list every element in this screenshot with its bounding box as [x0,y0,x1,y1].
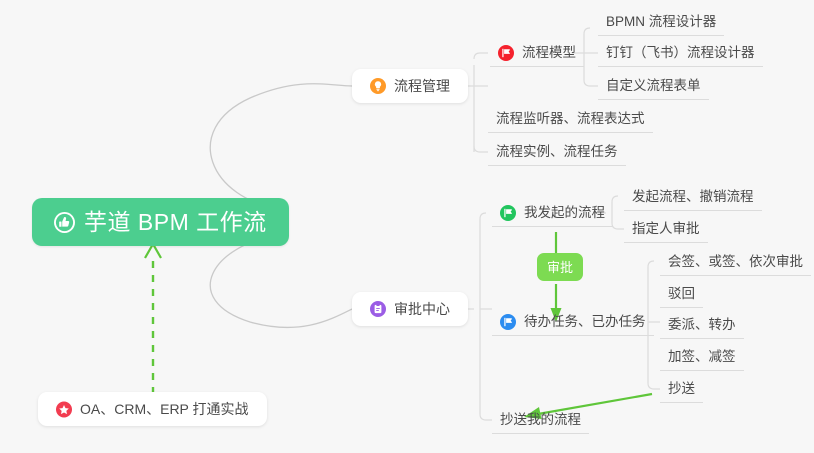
root-node[interactable]: 芋道 BPM 工作流 [32,198,289,246]
link-root-to-approval-center [210,234,352,327]
node-listener-expression[interactable]: 流程监听器、流程表达式 [488,105,653,133]
thumbs-up-icon [54,212,75,233]
approval-tag-label: 审批 [547,261,573,274]
link-ac-trunk [480,213,492,420]
node-label: BPMN 流程设计器 [606,15,716,29]
star-icon [56,401,72,417]
root-label: 芋道 BPM 工作流 [84,211,267,234]
flag-icon [500,205,516,221]
node-label: 抄送我的流程 [500,413,581,427]
node-my-initiated[interactable]: 我发起的流程 [492,199,613,227]
node-label: 流程模型 [522,46,576,60]
node-label: 发起流程、撤销流程 [632,190,754,204]
node-countersign[interactable]: 会签、或签、依次审批 [660,248,811,276]
flag-icon [498,45,514,61]
node-label: 流程实例、流程任务 [496,145,618,159]
link-pm-trunk-bottom [474,146,488,152]
node-label: 自定义流程表单 [606,79,701,93]
node-reject[interactable]: 驳回 [660,280,703,308]
node-label: 我发起的流程 [524,206,605,220]
integration-card-label: OA、CRM、ERP 打通实战 [80,402,249,416]
branch-label: 流程管理 [394,79,450,93]
node-label: 流程监听器、流程表达式 [496,112,645,126]
node-label: 会签、或签、依次审批 [668,255,803,269]
clipboard-icon [370,301,386,317]
node-assignee-approval[interactable]: 指定人审批 [624,215,708,243]
node-add-remove-sign[interactable]: 加签、减签 [660,343,744,371]
link-pm-trunk-top [474,53,488,59]
branch-approval-center[interactable]: 审批中心 [352,292,468,326]
link-model-trunk [584,28,598,86]
arrow-integration-to-root [145,244,161,394]
node-process-model[interactable]: 流程模型 [490,39,584,67]
mindmap-canvas: 芋道 BPM 工作流 流程管理 流程模型 BPMN 流程设计器 钉钉（飞书）流程 [0,0,814,453]
node-label: 指定人审批 [632,222,700,236]
node-label: 委派、转办 [668,318,736,332]
node-custom-form[interactable]: 自定义流程表单 [598,72,709,100]
node-instance-task[interactable]: 流程实例、流程任务 [488,138,626,166]
node-cc[interactable]: 抄送 [660,375,703,403]
node-cc-to-me[interactable]: 抄送我的流程 [492,406,589,434]
branch-label: 审批中心 [394,302,450,316]
integration-card[interactable]: OA、CRM、ERP 打通实战 [38,392,267,426]
node-label: 待办任务、已办任务 [524,315,646,329]
branch-process-management[interactable]: 流程管理 [352,69,468,103]
node-bpmn-designer[interactable]: BPMN 流程设计器 [598,8,724,36]
approval-tag[interactable]: 审批 [537,253,583,281]
node-dingtalk-designer[interactable]: 钉钉（飞书）流程设计器 [598,39,763,67]
node-label: 钉钉（飞书）流程设计器 [606,46,755,60]
lightbulb-icon [370,78,386,94]
node-todo-done-tasks[interactable]: 待办任务、已办任务 [492,308,654,336]
node-start-cancel-process[interactable]: 发起流程、撤销流程 [624,183,762,211]
link-mine-trunk [612,196,624,229]
link-root-to-process-management [210,84,352,209]
node-label: 加签、减签 [668,350,736,364]
node-label: 抄送 [668,382,695,396]
node-delegate-transfer[interactable]: 委派、转办 [660,311,744,339]
node-label: 驳回 [668,287,695,301]
flag-icon [500,314,516,330]
